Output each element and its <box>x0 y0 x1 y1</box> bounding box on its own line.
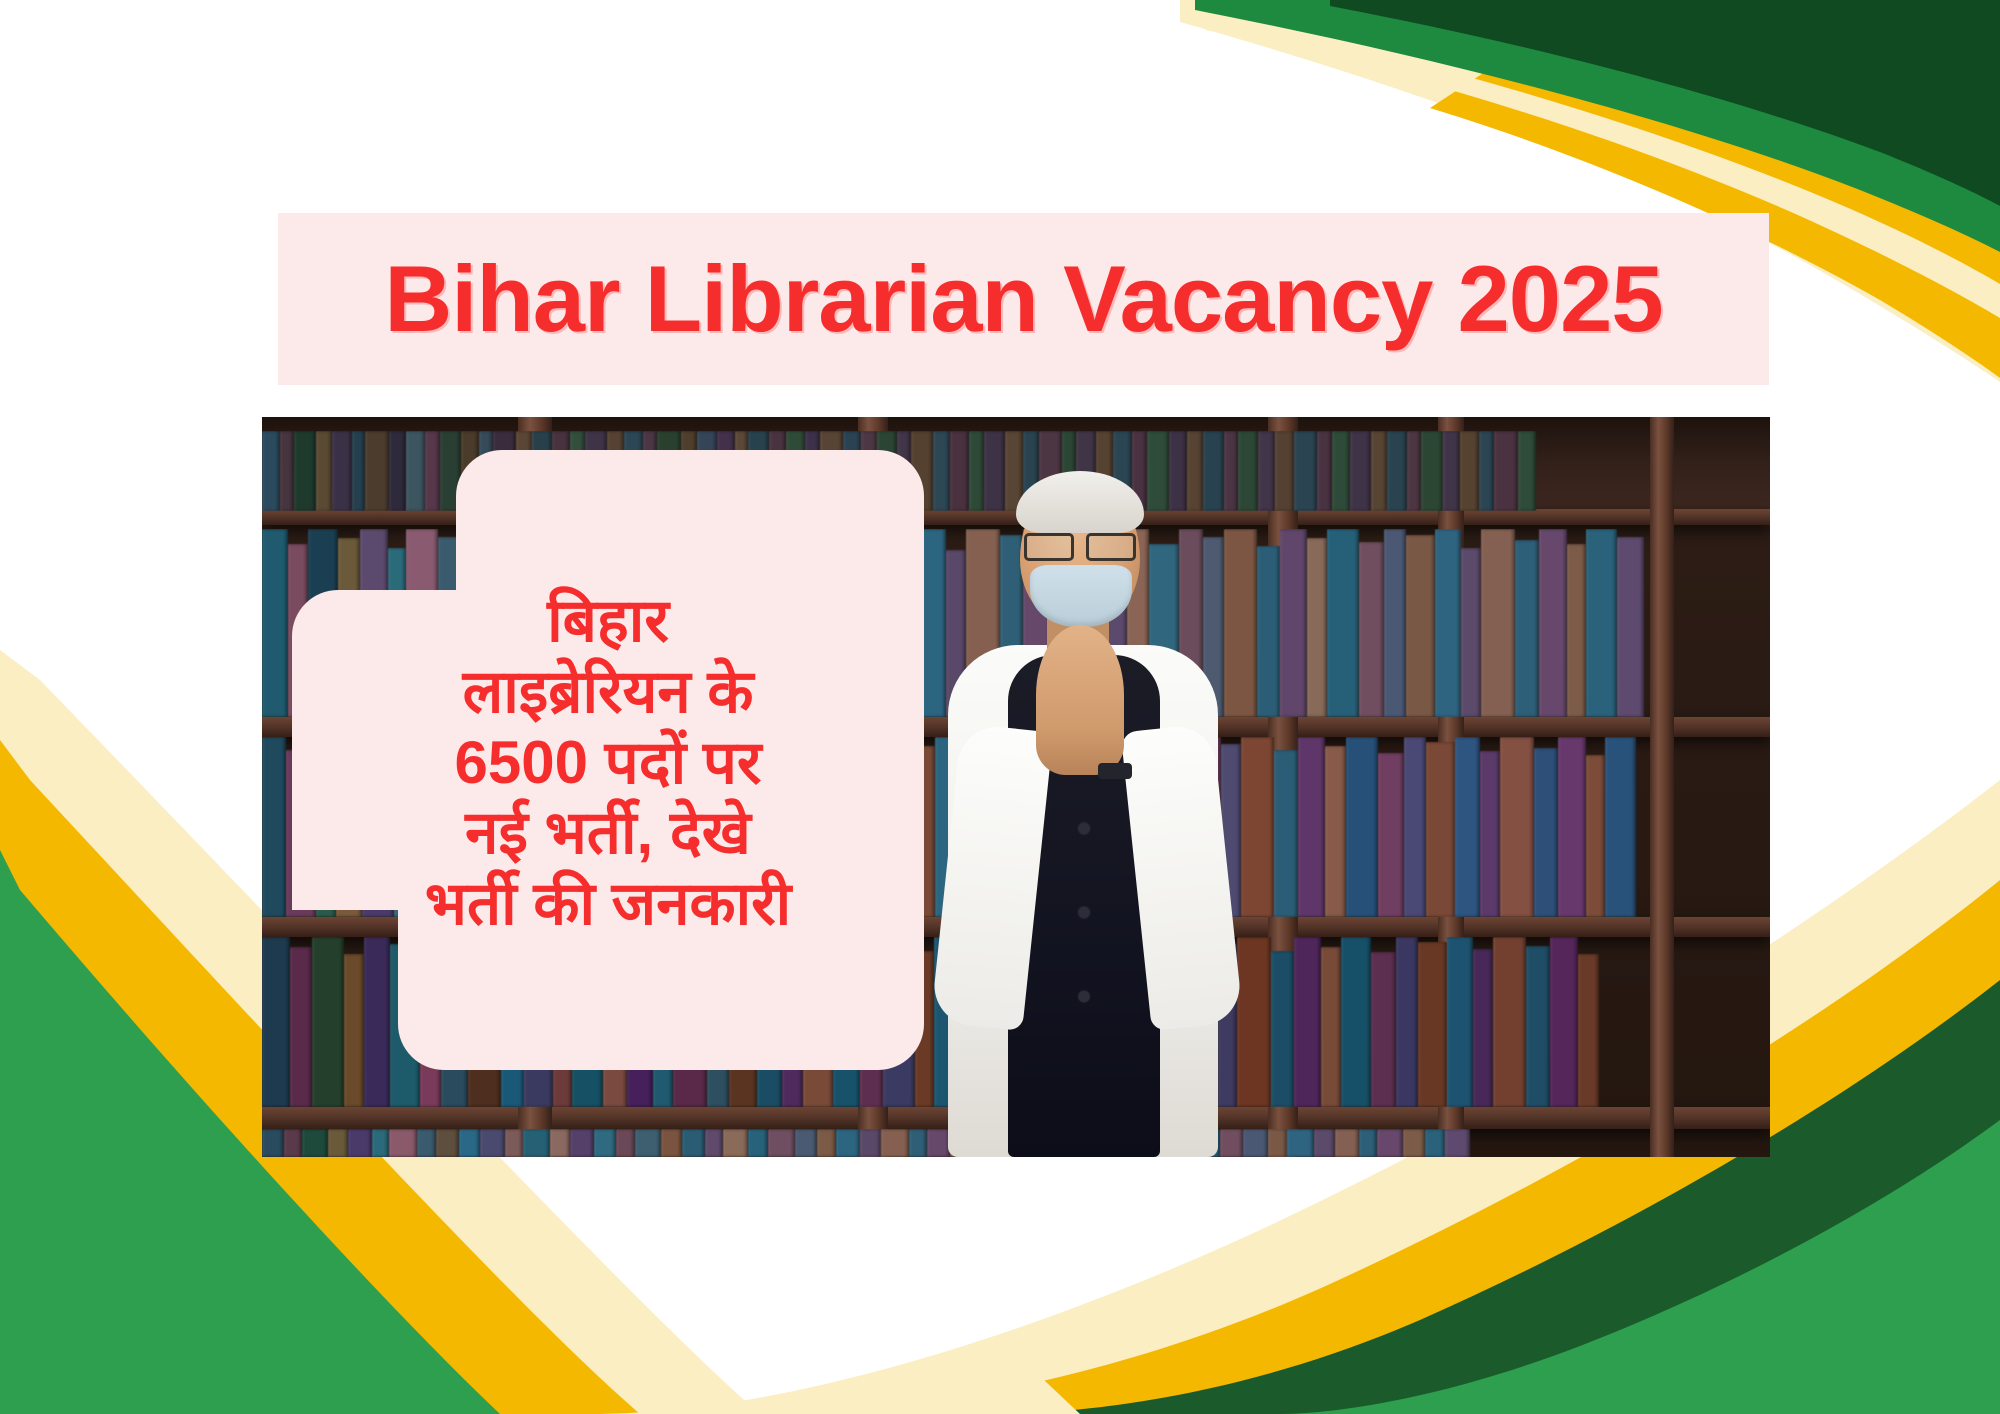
callout-line-4: नई भर्ती, देखे <box>465 798 751 869</box>
page-title: Bihar Librarian Vacancy 2025 <box>384 252 1662 346</box>
callout-line-5: भर्ती की जनकारी <box>425 869 791 940</box>
person-hair <box>1016 471 1144 533</box>
swoosh-cream-edge-bottom <box>600 1348 1080 1414</box>
person-folded-hands <box>1036 625 1124 775</box>
person-wristwatch <box>1098 763 1132 779</box>
swoosh-green-light-bottom <box>1280 1120 2000 1414</box>
swoosh-green-dark-top <box>1330 0 2000 206</box>
callout-line-2: लाइब्रेरियन के <box>463 657 754 728</box>
hindi-callout: बिहार लाइब्रेरियन के 6500 पदों पर नई भर्… <box>292 450 924 1070</box>
callout-text-block: बिहार लाइब्रेरियन के 6500 पदों पर नई भर्… <box>292 450 924 1070</box>
callout-line-1: बिहार <box>547 586 669 657</box>
person-glasses <box>1024 533 1136 555</box>
title-banner: Bihar Librarian Vacancy 2025 <box>278 213 1769 385</box>
callout-line-3: 6500 पदों पर <box>455 728 762 799</box>
person-figure <box>912 477 1242 1157</box>
person-face-mask <box>1030 565 1132 627</box>
